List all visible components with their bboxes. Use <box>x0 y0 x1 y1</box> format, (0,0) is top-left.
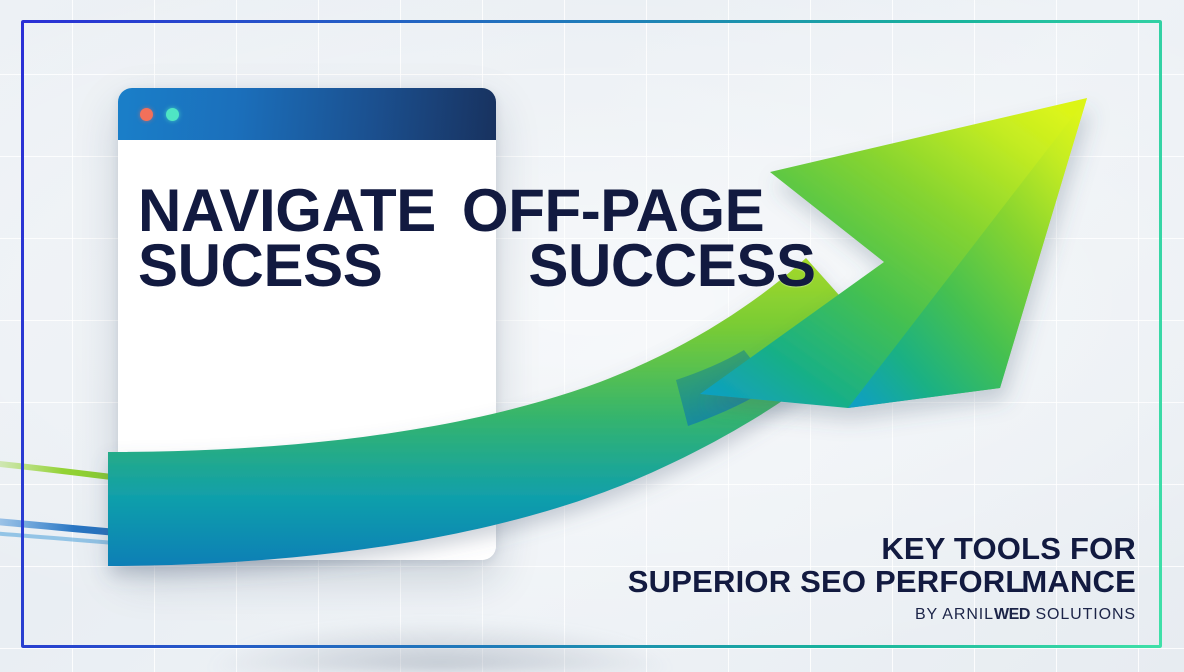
browser-window[interactable] <box>118 88 496 560</box>
close-dot-icon[interactable] <box>140 108 153 121</box>
headline: NAVIGATEOFF-PAGE SUCESSSUCCESS <box>138 183 818 293</box>
poster-canvas: NAVIGATEOFF-PAGE SUCESSSUCCESS KEY TOOLS… <box>0 0 1184 672</box>
headline-word-sucess: SUCESS <box>138 232 382 299</box>
byline: BY ARNILWED SOLUTIONS <box>628 606 1136 624</box>
caption-line-1: KEY TOOLS FOR <box>628 533 1136 566</box>
maximize-dot-icon[interactable] <box>166 108 179 121</box>
headline-line-1: NAVIGATEOFF-PAGE <box>138 183 818 238</box>
caption-line-2: SUPERIOR SEO PERFORlMANCE <box>628 566 1136 599</box>
byline-suffix: SOLUTIONS <box>1035 606 1136 623</box>
caption-line-2-artifact: l <box>1005 564 1021 599</box>
headline-word-success: SUCCESS <box>528 232 815 299</box>
caption-line-2-tail: MANCE <box>1021 564 1136 599</box>
byline-bold: WED <box>994 606 1030 623</box>
headline-line-2: SUCESSSUCCESS <box>138 238 818 293</box>
caption-line-2-main: SUPERIOR SEO PERFOR <box>628 564 1006 599</box>
browser-titlebar[interactable] <box>118 88 496 140</box>
byline-prefix: BY ARNIL <box>915 606 994 623</box>
caption-block: KEY TOOLS FOR SUPERIOR SEO PERFORlMANCE … <box>628 533 1136 624</box>
